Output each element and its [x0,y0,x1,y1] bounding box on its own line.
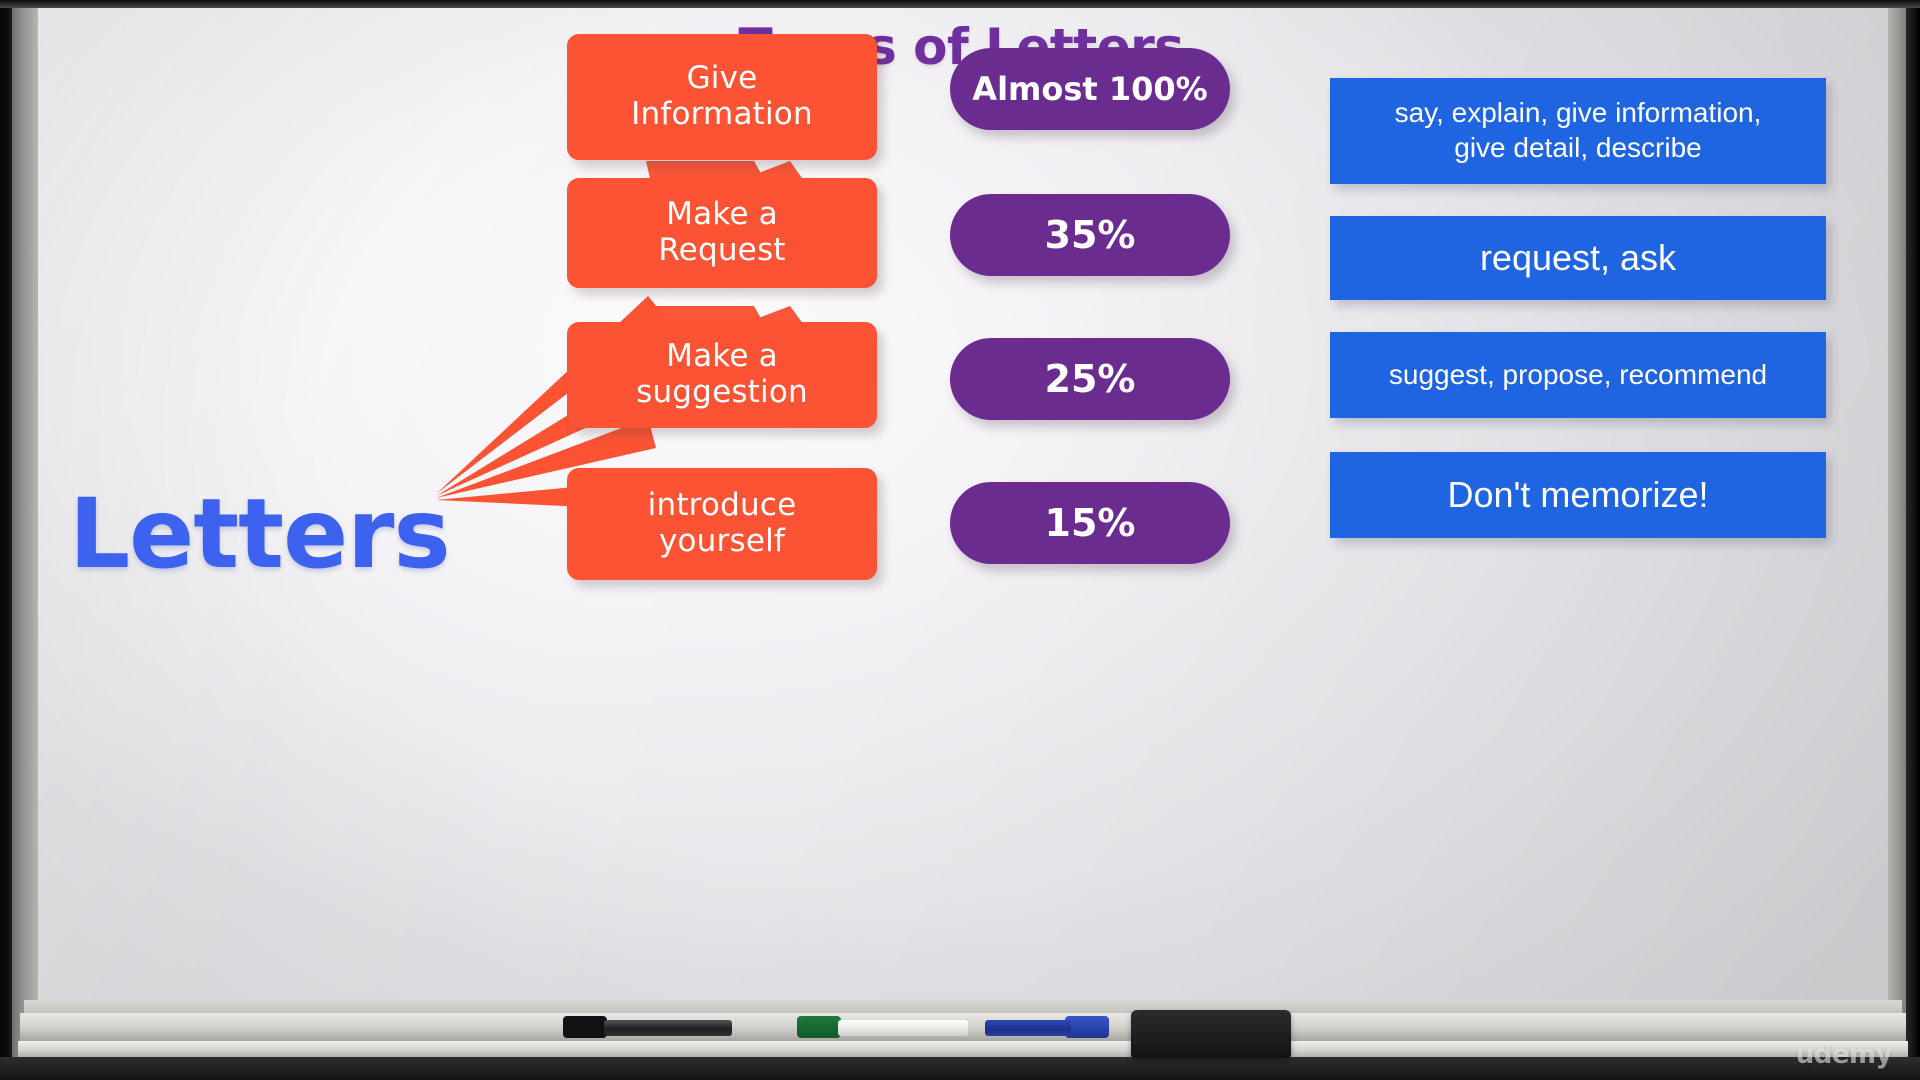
category-box-give-information[interactable]: GiveInformation [567,34,877,160]
keyword-box-give-information[interactable]: say, explain, give information,give deta… [1330,78,1826,184]
category-line-1: introduce [648,487,797,523]
udemy-watermark: udemy [1796,1040,1892,1070]
category-line-2: yourself [659,523,785,559]
category-line-2: suggestion [636,374,808,410]
keyword-box-make-a-suggestion[interactable]: suggest, propose, recommend [1330,332,1826,418]
category-line-1: Make a [666,196,778,232]
keyword-line-1: say, explain, give information, [1395,97,1762,128]
category-line-2: Information [631,96,813,132]
category-box-make-a-request[interactable]: Make aRequest [567,178,877,288]
percent-pill-make-a-request[interactable]: 35% [950,194,1230,276]
category-line-1: Make a [666,338,778,374]
keyword-box-make-a-request[interactable]: request, ask [1330,216,1826,300]
slide-content: Types of Letters Letters GiveInformation [34,6,1888,1024]
letters-root-label: Letters [69,486,450,582]
category-box-make-a-suggestion[interactable]: Make asuggestion [567,322,877,428]
category-line-2: Request [658,232,785,268]
screen: udemy Types of Letters Letters [0,0,1920,1080]
percent-pill-introduce-yourself[interactable]: 15% [950,482,1230,564]
percent-pill-give-information[interactable]: Almost 100% [950,48,1230,130]
wall-below-board [0,1057,1920,1080]
percent-pill-make-a-suggestion[interactable]: 25% [950,338,1230,420]
whiteboard-frame-right-inner [1888,0,1906,1050]
category-box-introduce-yourself[interactable]: introduceyourself [567,468,877,580]
category-line-1: Give [687,60,758,96]
keyword-line-2: give detail, describe [1454,132,1701,163]
keyword-box-introduce-yourself[interactable]: Don't memorize! [1330,452,1826,538]
